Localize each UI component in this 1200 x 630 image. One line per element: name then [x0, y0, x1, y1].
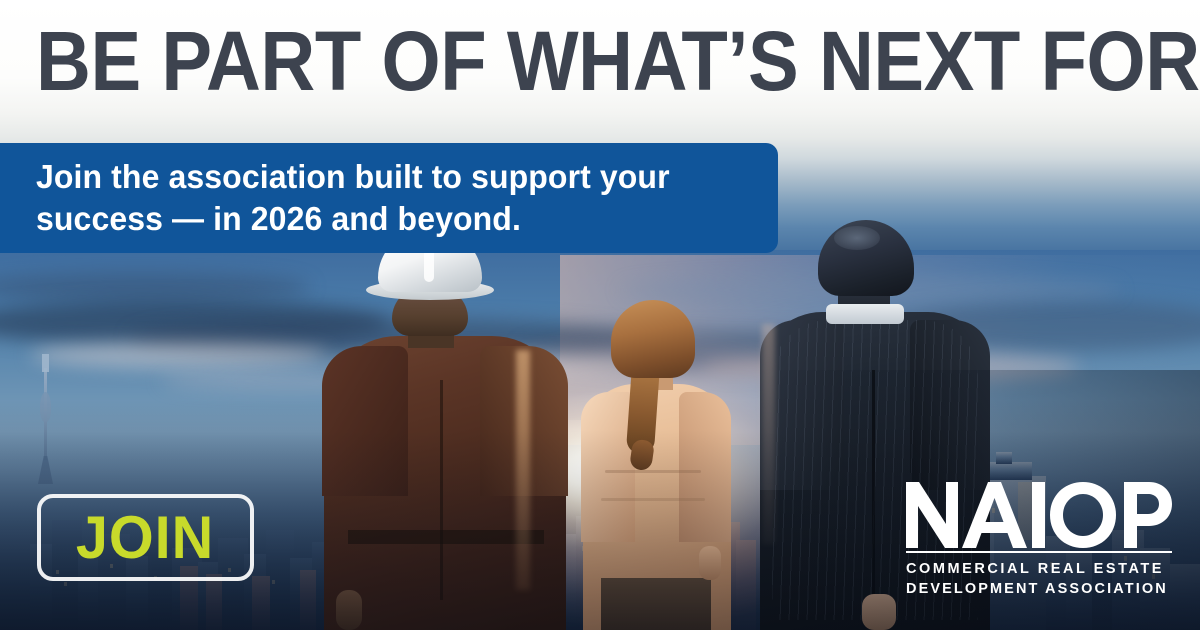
join-button[interactable]: JOIN — [37, 494, 254, 581]
naiop-logo: COMMERCIAL REAL ESTATE DEVELOPMENT ASSOC… — [906, 482, 1172, 599]
page-title: BE PART OF WHAT’S NEXT FOR CRE. — [36, 18, 1068, 104]
advertisement-banner: BE PART OF WHAT’S NEXT FOR CRE. Join the… — [0, 0, 1200, 630]
logo-tagline-line-1: COMMERCIAL REAL ESTATE — [906, 559, 1172, 579]
callout-line-2: success — in 2026 and beyond. — [36, 198, 736, 240]
join-button-label: JOIN — [76, 508, 214, 568]
logo-tagline-line-2: DEVELOPMENT ASSOCIATION — [906, 579, 1172, 599]
callout-banner: Join the association built to support yo… — [0, 143, 778, 253]
naiop-wordmark-icon — [906, 482, 1172, 548]
logo-divider — [906, 551, 1172, 553]
callout-line-1: Join the association built to support yo… — [36, 156, 736, 198]
